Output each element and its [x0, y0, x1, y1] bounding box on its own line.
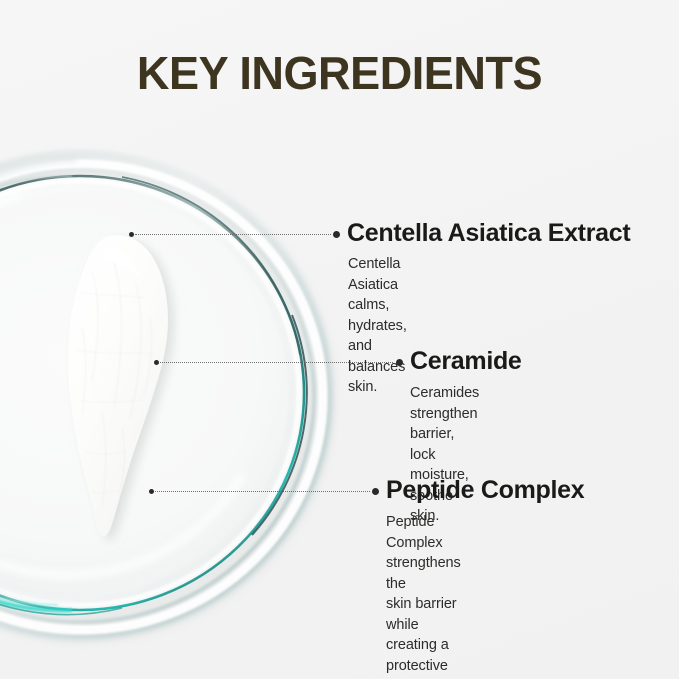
- cream-swatch: [62, 232, 197, 542]
- connector-start-dot: [149, 489, 154, 494]
- connector-start-dot: [154, 360, 159, 365]
- ingredient-title: Peptide Complex: [386, 478, 584, 503]
- page-title: KEY INGREDIENTS: [7, 46, 672, 100]
- connector-dotted-line: [135, 234, 331, 235]
- petri-dish: [0, 145, 352, 645]
- ingredient-title: Centella Asiatica Extract: [347, 221, 630, 246]
- connector-end-dot: [372, 488, 379, 495]
- ingredient-description: Centella Asiatica calms, hydrates, and b…: [348, 254, 407, 398]
- connector-dotted-line: [155, 491, 370, 492]
- connector-end-dot: [333, 231, 340, 238]
- ingredients-infographic: KEY INGREDIENTS: [0, 0, 679, 679]
- ingredient-title: Ceramide: [410, 349, 522, 374]
- ingredient-description: Ceramides strengthen barrier, lock moist…: [410, 383, 479, 527]
- ingredient-description: Peptide Complex strengthens the skin bar…: [386, 512, 461, 679]
- connector-end-dot: [396, 359, 403, 366]
- connector-dotted-line: [160, 362, 393, 363]
- connector-start-dot: [129, 232, 134, 237]
